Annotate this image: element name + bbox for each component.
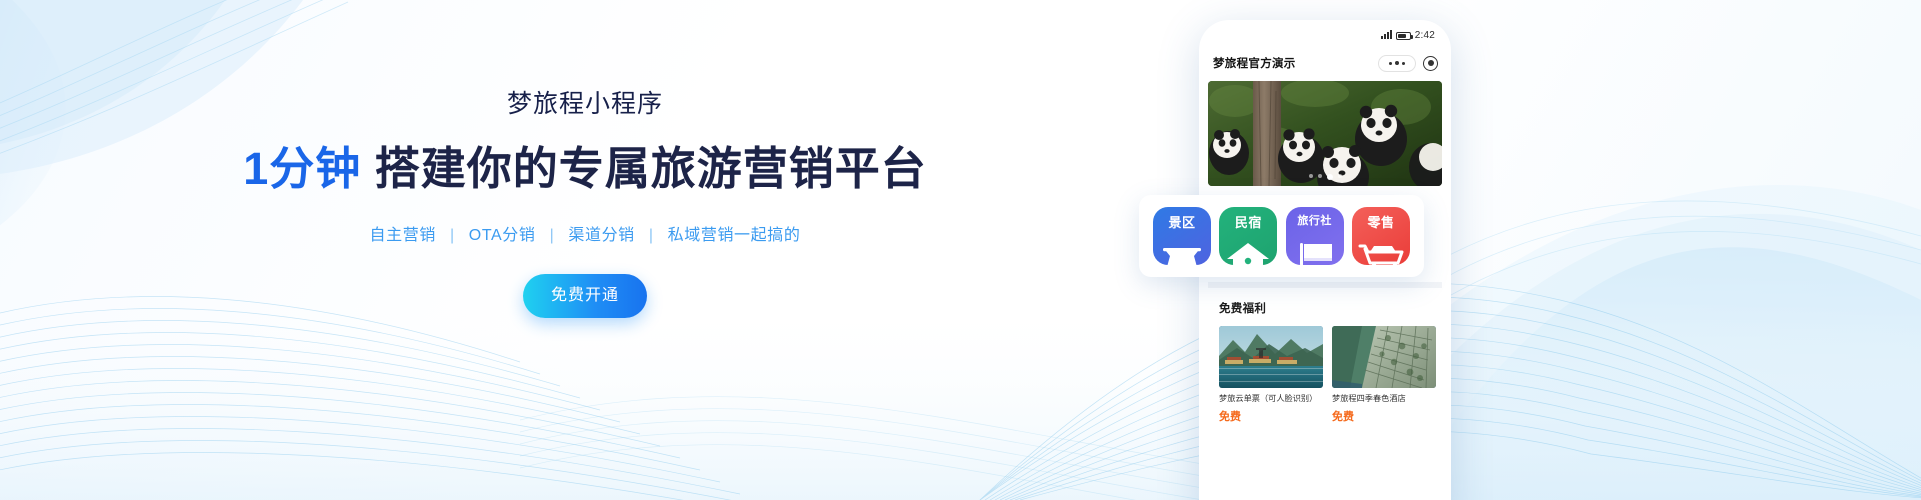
- hero-eyebrow: 梦旅程小程序: [0, 92, 1170, 117]
- free-benefit-card[interactable]: 梦旅程四季春色酒店 免费: [1332, 326, 1436, 424]
- headline-rest: 搭建你的专属旅游营销平台: [361, 143, 927, 194]
- house-icon: [1219, 237, 1277, 265]
- hero-copy: 梦旅程小程序 1分钟 搭建你的专属旅游营销平台 自主营销 | OTA分销 | 渠…: [0, 92, 1170, 318]
- free-benefit-name: 梦旅云单票（可人脸识别）: [1219, 394, 1323, 404]
- carousel-dots[interactable]: [1208, 174, 1442, 180]
- scenery-thumbnail: [1219, 326, 1323, 388]
- feature-item-2: OTA分销: [469, 227, 536, 244]
- hero-banner: 梦旅程小程序 1分钟 搭建你的专属旅游营销平台 自主营销 | OTA分销 | 渠…: [0, 0, 1921, 500]
- category-label: 旅行社: [1297, 216, 1332, 227]
- category-homestay[interactable]: 民宿: [1219, 207, 1277, 265]
- signal-icon: [1381, 30, 1392, 41]
- archway-icon: [1153, 237, 1211, 265]
- miniprogram-title: 梦旅程官方演示: [1213, 55, 1296, 71]
- category-shortcut-card: 景区 民宿 旅行社: [1139, 195, 1424, 277]
- panda-banner-image: [1208, 81, 1442, 186]
- hotel-thumbnail: [1332, 326, 1436, 388]
- battery-icon: [1396, 32, 1411, 40]
- feature-separator: |: [450, 227, 455, 244]
- category-label: 民宿: [1235, 216, 1262, 229]
- feature-separator: |: [550, 227, 555, 244]
- close-target-icon[interactable]: [1423, 56, 1438, 71]
- free-benefits-grid: 梦旅云单票（可人脸识别） 免费: [1219, 326, 1431, 424]
- flag-icon: [1286, 237, 1344, 265]
- category-travel-agency[interactable]: 旅行社: [1286, 207, 1344, 265]
- category-scenic-area[interactable]: 景区: [1153, 207, 1211, 265]
- hero-feature-list: 自主营销 | OTA分销 | 渠道分销 | 私域营销一起搞的: [0, 221, 1170, 245]
- feature-item-4: 私域营销一起搞的: [668, 227, 801, 244]
- status-clock: 2:42: [1415, 30, 1435, 41]
- free-benefit-price: 免费: [1332, 408, 1436, 424]
- free-benefits-title: 免费福利: [1219, 300, 1431, 316]
- category-label: 景区: [1168, 216, 1195, 229]
- feature-item-1: 自主营销: [370, 227, 436, 244]
- carousel-dot-1[interactable]: [1309, 174, 1313, 178]
- phone-status-bar: 2:42: [1199, 20, 1451, 47]
- more-menu-icon[interactable]: [1378, 55, 1416, 72]
- free-benefit-name: 梦旅程四季春色酒店: [1332, 394, 1436, 404]
- carousel-dot-2[interactable]: [1318, 174, 1322, 178]
- phone-mockup: 2:42 梦旅程官方演示: [1199, 20, 1451, 500]
- cta-container: 免费开通: [0, 274, 1170, 318]
- feature-separator: |: [649, 227, 654, 244]
- carousel-banner[interactable]: [1208, 81, 1442, 186]
- hero-headline: 1分钟 搭建你的专属旅游营销平台: [0, 143, 1170, 195]
- phone-nav-bar: 梦旅程官方演示: [1199, 47, 1451, 79]
- carousel-dot-4[interactable]: [1338, 174, 1342, 178]
- headline-accent: 1分钟: [243, 143, 361, 194]
- category-label: 零售: [1367, 216, 1394, 229]
- free-benefit-card[interactable]: 梦旅云单票（可人脸识别） 免费: [1219, 326, 1323, 424]
- scenery-image: [1219, 326, 1323, 388]
- hotel-image: [1332, 326, 1436, 388]
- feature-item-3: 渠道分销: [568, 227, 634, 244]
- category-retail[interactable]: 零售: [1352, 207, 1410, 265]
- shopping-bag-icon: [1352, 237, 1410, 265]
- free-activate-button[interactable]: 免费开通: [523, 274, 647, 318]
- free-benefits-section: 免费福利: [1208, 288, 1442, 424]
- carousel-dot-3-active[interactable]: [1327, 174, 1333, 180]
- free-benefit-price: 免费: [1219, 408, 1323, 424]
- miniprogram-capsule: [1378, 55, 1438, 72]
- signal-icon-svg: [1381, 30, 1392, 39]
